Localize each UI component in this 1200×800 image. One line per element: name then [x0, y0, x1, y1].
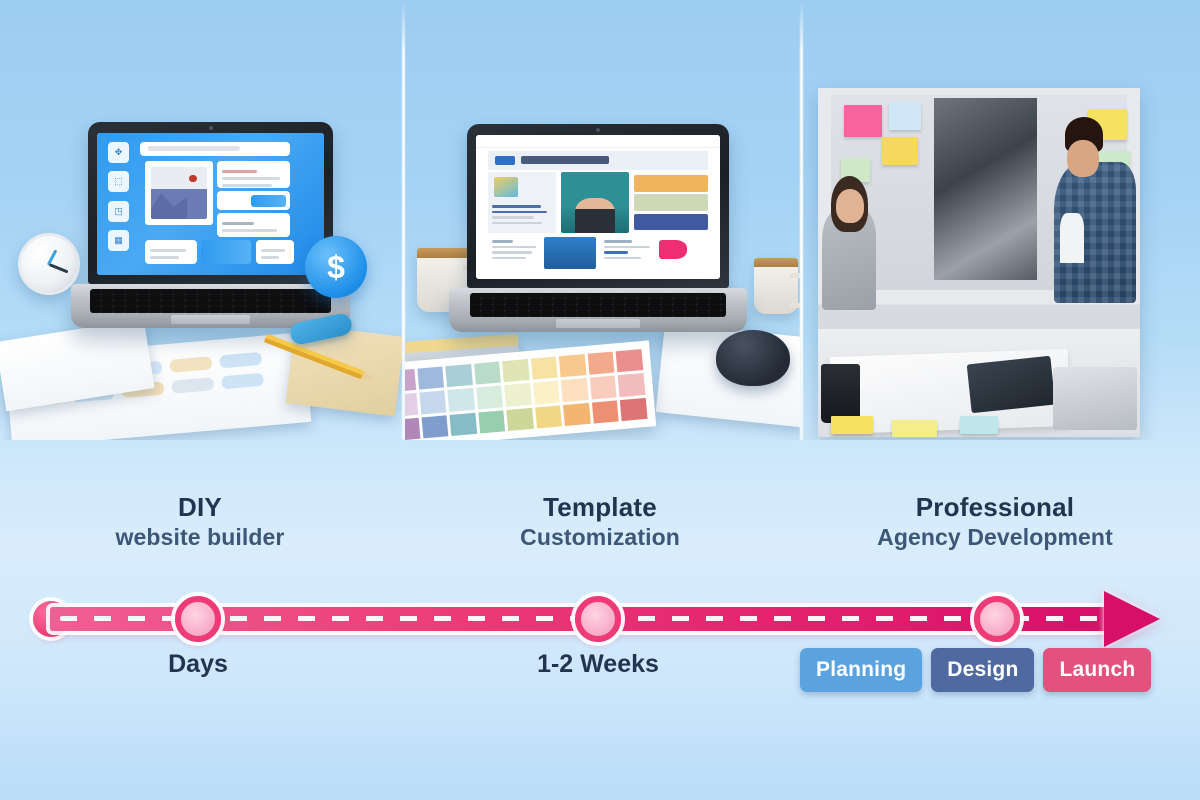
- badge-design[interactable]: Design: [931, 648, 1034, 692]
- badge-launch[interactable]: Launch: [1043, 648, 1151, 692]
- laptop-with-template-site: [467, 124, 729, 316]
- template-screen: [476, 135, 720, 279]
- sticky-note: [831, 416, 873, 433]
- laptop-lid: [467, 124, 729, 288]
- template-card-text: [488, 172, 556, 232]
- timeline-label-weeks: 1-2 Weeks: [478, 650, 718, 679]
- builder-footer-button[interactable]: [201, 240, 251, 264]
- laptop-website-builder-scene: ✥ ⬚ ◳ ▦: [0, 0, 402, 440]
- caption-professional: Professional Agency Development: [820, 492, 1170, 551]
- timeline: [0, 585, 1200, 647]
- grid-icon[interactable]: ▦: [108, 230, 129, 251]
- builder-footer-right: [256, 240, 295, 264]
- site-logo: [495, 156, 515, 165]
- stage-badges: Planning Design Launch: [800, 648, 1180, 692]
- builder-screen: ✥ ⬚ ◳ ▦: [97, 133, 324, 275]
- builder-footer-left: [145, 240, 197, 264]
- template-row-portrait: [544, 237, 595, 269]
- sticky-note: [892, 420, 937, 437]
- sticky-note: [960, 416, 999, 433]
- timeline-label-days: Days: [78, 650, 318, 679]
- coffee-mug-secondary: [754, 258, 798, 314]
- caption-diy: DIY website builder: [30, 492, 370, 551]
- builder-text-block-1: [217, 161, 290, 188]
- caption-template: Template Customization: [430, 492, 770, 551]
- template-header-band: [488, 151, 708, 170]
- template-row-text-2: [600, 237, 651, 269]
- panel-professional: [803, 0, 1200, 440]
- caption-subtitle: Agency Development: [820, 523, 1170, 552]
- computer-mouse: [716, 330, 790, 386]
- laptop-lid: ✥ ⬚ ◳ ▦: [88, 122, 333, 284]
- cursor-icon[interactable]: ✥: [108, 142, 129, 163]
- caption-subtitle: website builder: [30, 523, 370, 552]
- designer-woman: [818, 137, 966, 353]
- designer-man: [953, 102, 1140, 353]
- laptop-with-builder-ui: ✥ ⬚ ◳ ▦: [88, 122, 333, 312]
- timeline-node-days[interactable]: [175, 596, 221, 642]
- laptop-base: [449, 288, 748, 332]
- builder-image-block: [145, 161, 213, 225]
- badge-planning[interactable]: Planning: [800, 648, 922, 692]
- webcam: [209, 126, 213, 130]
- builder-url-bar: [140, 142, 290, 156]
- template-bottom-row: [488, 237, 708, 269]
- sticky-note: [889, 102, 921, 130]
- trackpad: [556, 319, 640, 328]
- infographic-canvas: ✥ ⬚ ◳ ▦: [0, 0, 1200, 800]
- sticky-note: [844, 105, 883, 136]
- layers-icon[interactable]: ◳: [108, 201, 129, 222]
- panel-template: [405, 0, 800, 440]
- laptop-template-site-scene: [405, 0, 800, 440]
- builder-toolbar: ✥ ⬚ ◳ ▦: [104, 142, 134, 261]
- template-card-portrait: [561, 172, 629, 232]
- template-card-swatches: [634, 172, 708, 232]
- template-top-grid: [488, 172, 708, 232]
- caption-subtitle: Customization: [430, 523, 770, 552]
- browser-bar: [476, 135, 720, 148]
- dollar-coin-badge: $: [305, 236, 367, 298]
- caption-title: Professional: [820, 492, 1170, 523]
- builder-cta-block: [217, 191, 290, 209]
- timeline-node-weeks[interactable]: [575, 596, 621, 642]
- dollar-sign-icon: $: [327, 249, 345, 286]
- webcam: [596, 128, 600, 132]
- crop-icon[interactable]: ⬚: [108, 171, 129, 192]
- caption-title: Template: [430, 492, 770, 523]
- builder-text-block-2: [217, 213, 290, 237]
- trackpad: [171, 315, 249, 324]
- laptop: [1053, 367, 1137, 430]
- keyboard: [470, 293, 727, 317]
- site-headline: [521, 156, 609, 163]
- caption-title: DIY: [30, 492, 370, 523]
- keyboard: [90, 289, 330, 313]
- template-row-text-1: [488, 237, 539, 269]
- panel-diy: ✥ ⬚ ◳ ▦: [0, 0, 402, 440]
- timeline-node-professional[interactable]: [974, 596, 1020, 642]
- timeline-arrow-icon: [1104, 591, 1160, 647]
- template-row-accent: [657, 237, 708, 269]
- agency-team-photo: [818, 88, 1140, 437]
- coffee-cup: [821, 364, 860, 423]
- tablet: [967, 356, 1055, 413]
